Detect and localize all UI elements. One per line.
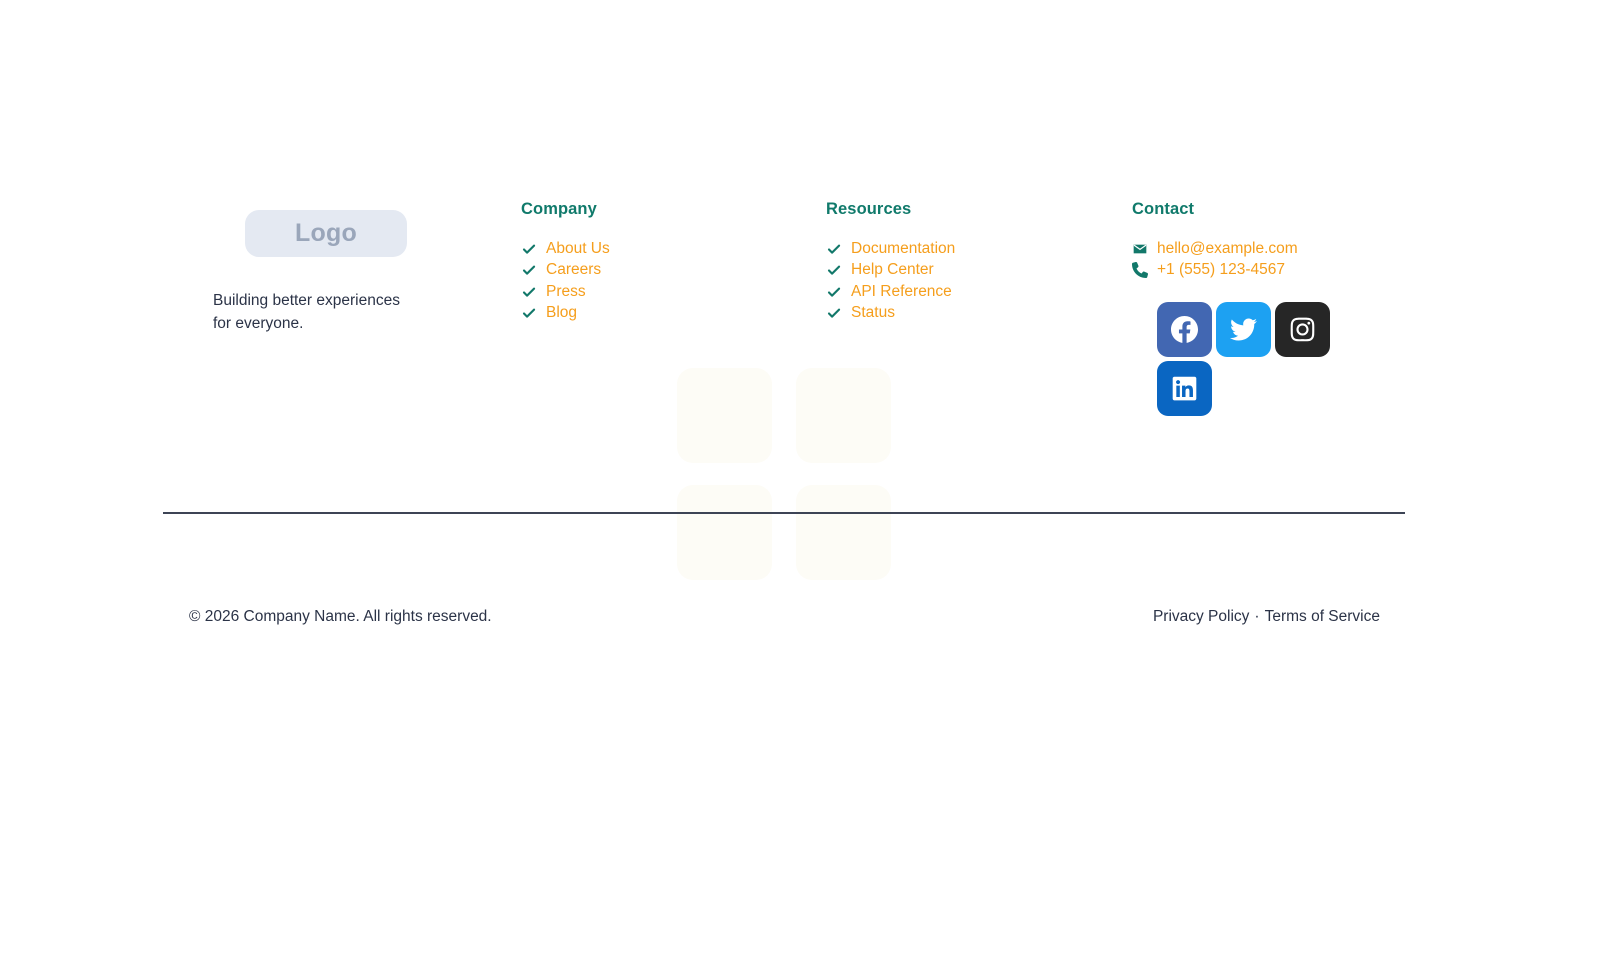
check-icon bbox=[826, 284, 842, 300]
company-link-list: About Us Careers Press Blog bbox=[521, 238, 811, 324]
social-link-linkedin[interactable] bbox=[1157, 361, 1212, 416]
list-item[interactable]: Careers bbox=[521, 260, 811, 282]
phone-icon bbox=[1132, 262, 1148, 278]
decorative-square bbox=[796, 485, 891, 580]
resources-link-list: Documentation Help Center API Reference … bbox=[826, 238, 1116, 324]
footer-link[interactable]: Blog bbox=[546, 304, 577, 322]
list-item[interactable]: API Reference bbox=[826, 281, 1116, 303]
list-item[interactable]: Status bbox=[826, 303, 1116, 325]
column-title-company: Company bbox=[521, 200, 811, 219]
social-link-facebook[interactable] bbox=[1157, 302, 1212, 357]
footer-link[interactable]: Careers bbox=[546, 261, 601, 279]
check-icon bbox=[521, 284, 537, 300]
footer-link[interactable]: About Us bbox=[546, 240, 610, 258]
legal-separator: · bbox=[1254, 608, 1259, 626]
contact-phone[interactable]: +1 (555) 123-4567 bbox=[1157, 261, 1285, 279]
contact-email[interactable]: hello@example.com bbox=[1157, 240, 1298, 258]
check-icon bbox=[521, 305, 537, 321]
footer-page: Logo Building better experiences for eve… bbox=[0, 0, 1600, 978]
copyright-text: © 2026 Company Name. All rights reserved… bbox=[189, 608, 492, 626]
column-title-resources: Resources bbox=[826, 200, 1116, 219]
footer-link[interactable]: Status bbox=[851, 304, 895, 322]
check-icon bbox=[826, 305, 842, 321]
footer-column-resources: Resources Documentation Help Center API … bbox=[826, 200, 1116, 324]
footer-bottom-bar: © 2026 Company Name. All rights reserved… bbox=[163, 595, 1405, 639]
footer-column-contact: Contact hello@example.com +1 (555) 123-4… bbox=[1132, 200, 1422, 416]
social-link-instagram[interactable] bbox=[1275, 302, 1330, 357]
column-title-contact: Contact bbox=[1132, 200, 1422, 219]
contact-phone-item[interactable]: +1 (555) 123-4567 bbox=[1132, 260, 1422, 282]
privacy-policy-link[interactable]: Privacy Policy bbox=[1153, 608, 1249, 626]
brand-tagline: Building better experiences for everyone… bbox=[213, 290, 413, 335]
footer-link[interactable]: Press bbox=[546, 283, 586, 301]
check-icon bbox=[521, 262, 537, 278]
footer-columns: Logo Building better experiences for eve… bbox=[163, 200, 1405, 430]
footer-main: Logo Building better experiences for eve… bbox=[163, 200, 1405, 430]
check-icon bbox=[521, 241, 537, 257]
decorative-square bbox=[677, 485, 772, 580]
twitter-icon bbox=[1230, 316, 1257, 343]
linkedin-icon bbox=[1171, 375, 1198, 402]
legal-links: Privacy Policy · Terms of Service bbox=[1153, 608, 1380, 626]
footer-divider bbox=[163, 512, 1405, 514]
footer-link[interactable]: Help Center bbox=[851, 261, 934, 279]
social-links bbox=[1157, 302, 1332, 416]
check-icon bbox=[826, 262, 842, 278]
contact-email-item[interactable]: hello@example.com bbox=[1132, 238, 1422, 260]
logo-text: Logo bbox=[295, 219, 357, 248]
list-item[interactable]: Blog bbox=[521, 303, 811, 325]
footer-link[interactable]: API Reference bbox=[851, 283, 952, 301]
footer-column-company: Company About Us Careers Press bbox=[521, 200, 811, 324]
facebook-icon bbox=[1171, 316, 1198, 343]
footer-column-brand: Logo Building better experiences for eve… bbox=[213, 200, 513, 335]
contact-list: hello@example.com +1 (555) 123-4567 bbox=[1132, 238, 1422, 281]
envelope-icon bbox=[1132, 241, 1148, 257]
list-item[interactable]: Help Center bbox=[826, 260, 1116, 282]
instagram-icon bbox=[1289, 316, 1316, 343]
terms-of-service-link[interactable]: Terms of Service bbox=[1265, 608, 1380, 626]
list-item[interactable]: Documentation bbox=[826, 238, 1116, 260]
check-icon bbox=[826, 241, 842, 257]
social-link-twitter[interactable] bbox=[1216, 302, 1271, 357]
footer-link[interactable]: Documentation bbox=[851, 240, 955, 258]
list-item[interactable]: About Us bbox=[521, 238, 811, 260]
logo-placeholder[interactable]: Logo bbox=[245, 210, 407, 257]
list-item[interactable]: Press bbox=[521, 281, 811, 303]
